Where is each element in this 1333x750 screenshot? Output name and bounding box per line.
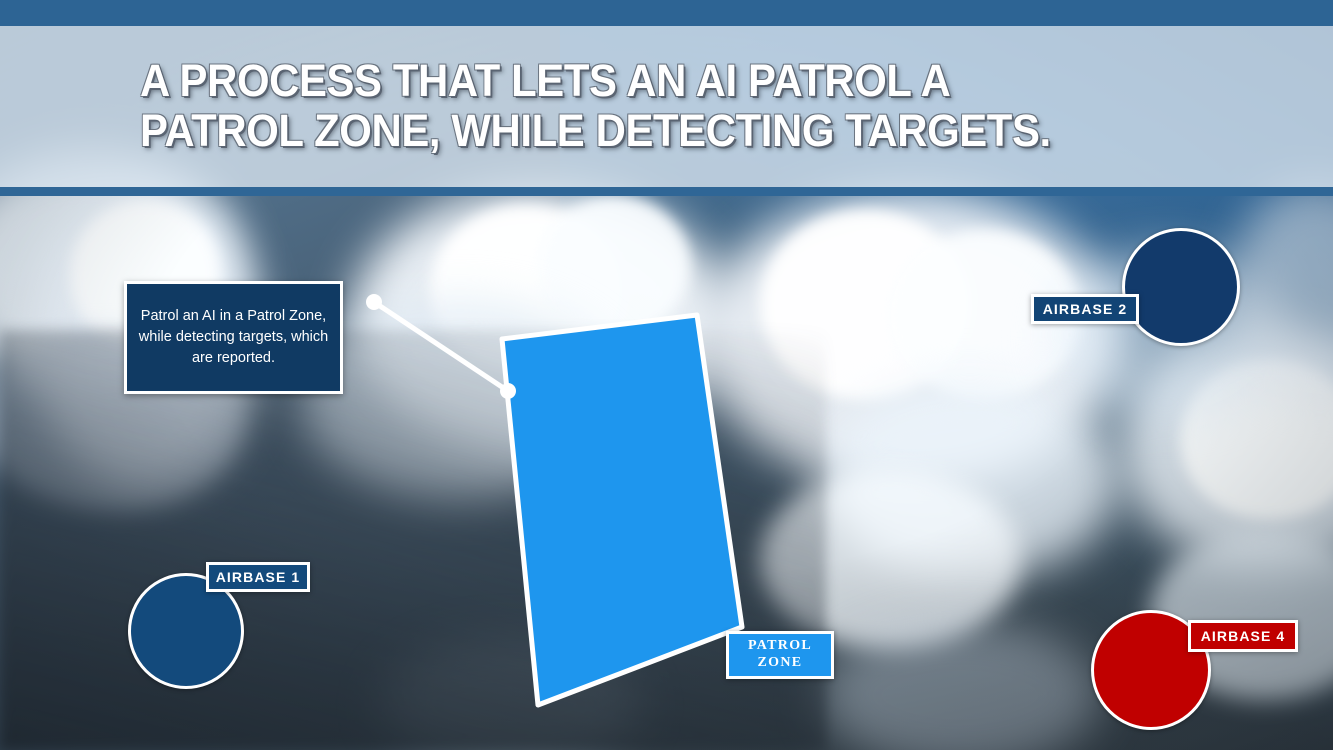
- page-title-line-2: PATROL ZONE, WHILE DETECTING TARGETS.: [140, 106, 1126, 156]
- airbase-4-label-box[interactable]: AIRBASE 4: [1188, 620, 1298, 652]
- airbase-1-label: AIRBASE 1: [216, 569, 301, 586]
- airbase-2-label-box[interactable]: AIRBASE 2: [1031, 294, 1139, 324]
- airbase-4-label: AIRBASE 4: [1201, 628, 1286, 645]
- airbase-2-label: AIRBASE 2: [1043, 301, 1128, 318]
- banner-bottom-bar: [0, 187, 1333, 196]
- patrol-zone-label-line-2: ZONE: [758, 655, 803, 672]
- patrol-zone-label-box[interactable]: PATROL ZONE: [726, 631, 834, 679]
- banner-top-bar: [0, 0, 1333, 26]
- description-callout-box[interactable]: Patrol an AI in a Patrol Zone, while det…: [124, 281, 343, 394]
- airbase-1-label-box[interactable]: AIRBASE 1: [206, 562, 310, 592]
- page-title: A PROCESS THAT LETS AN AI PATROL A PATRO…: [140, 56, 1126, 157]
- description-text: Patrol an AI in a Patrol Zone, while det…: [127, 306, 340, 369]
- slide-canvas: A PROCESS THAT LETS AN AI PATROL A PATRO…: [0, 0, 1333, 750]
- patrol-zone-label-line-1: PATROL: [748, 638, 812, 655]
- airbase-2-circle[interactable]: [1122, 228, 1240, 346]
- page-title-line-1: A PROCESS THAT LETS AN AI PATROL A: [140, 56, 1126, 106]
